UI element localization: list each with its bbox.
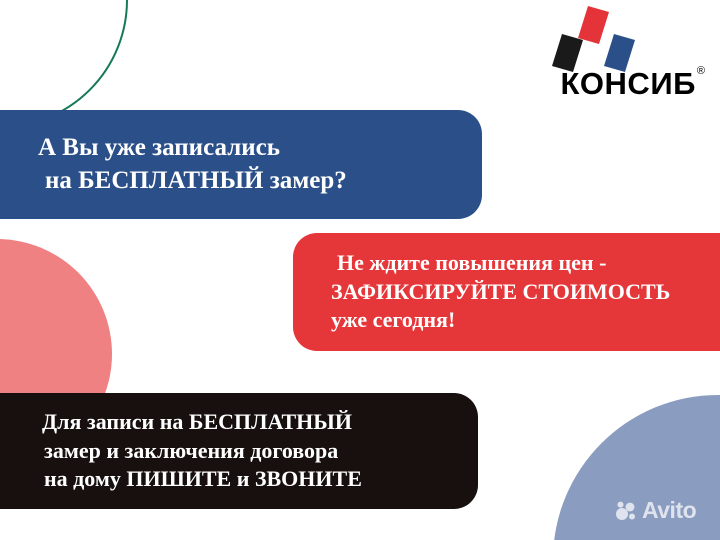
- brand-name-text: КОНСИБ: [561, 66, 696, 101]
- registered-trademark-icon: ®: [697, 65, 705, 77]
- headline-banner-black: Для записи на БЕСПЛАТНЫЙ замер и заключе…: [0, 393, 478, 509]
- konsib-logo-mark-icon: [552, 6, 638, 72]
- advertisement-poster: КОНСИБ® А Вы уже записались на БЕСПЛАТНЫ…: [0, 0, 720, 540]
- banner-black-line-2: замер и заключения договора: [42, 437, 478, 466]
- banner-black-line-1: Для записи на БЕСПЛАТНЫЙ: [42, 408, 478, 437]
- green-ring-decoration: [0, 0, 128, 128]
- headline-banner-red: Не ждите повышения цен - ЗАФИКСИРУЙТЕ СТ…: [293, 233, 720, 351]
- banner-red-line-1: Не ждите повышения цен -: [331, 249, 720, 278]
- brand-logo: КОНСИБ®: [524, 6, 704, 108]
- banner-blue-line-1: А Вы уже записались: [38, 132, 482, 165]
- banner-blue-line-2: на БЕСПЛАТНЫЙ замер?: [38, 165, 482, 198]
- banner-black-line-3: на дому ПИШИТЕ и ЗВОНИТЕ: [42, 465, 478, 494]
- banner-red-line-2: ЗАФИКСИРУЙТЕ СТОИМОСТЬ: [331, 278, 720, 307]
- avito-wordmark-text: Avito: [642, 499, 696, 522]
- banner-red-line-3: уже сегодня!: [331, 306, 720, 335]
- avito-dots-icon: [616, 501, 638, 521]
- brand-wordmark: КОНСИБ®: [524, 68, 704, 99]
- headline-banner-blue: А Вы уже записались на БЕСПЛАТНЫЙ замер?: [0, 110, 482, 219]
- avito-watermark: Avito: [616, 499, 696, 522]
